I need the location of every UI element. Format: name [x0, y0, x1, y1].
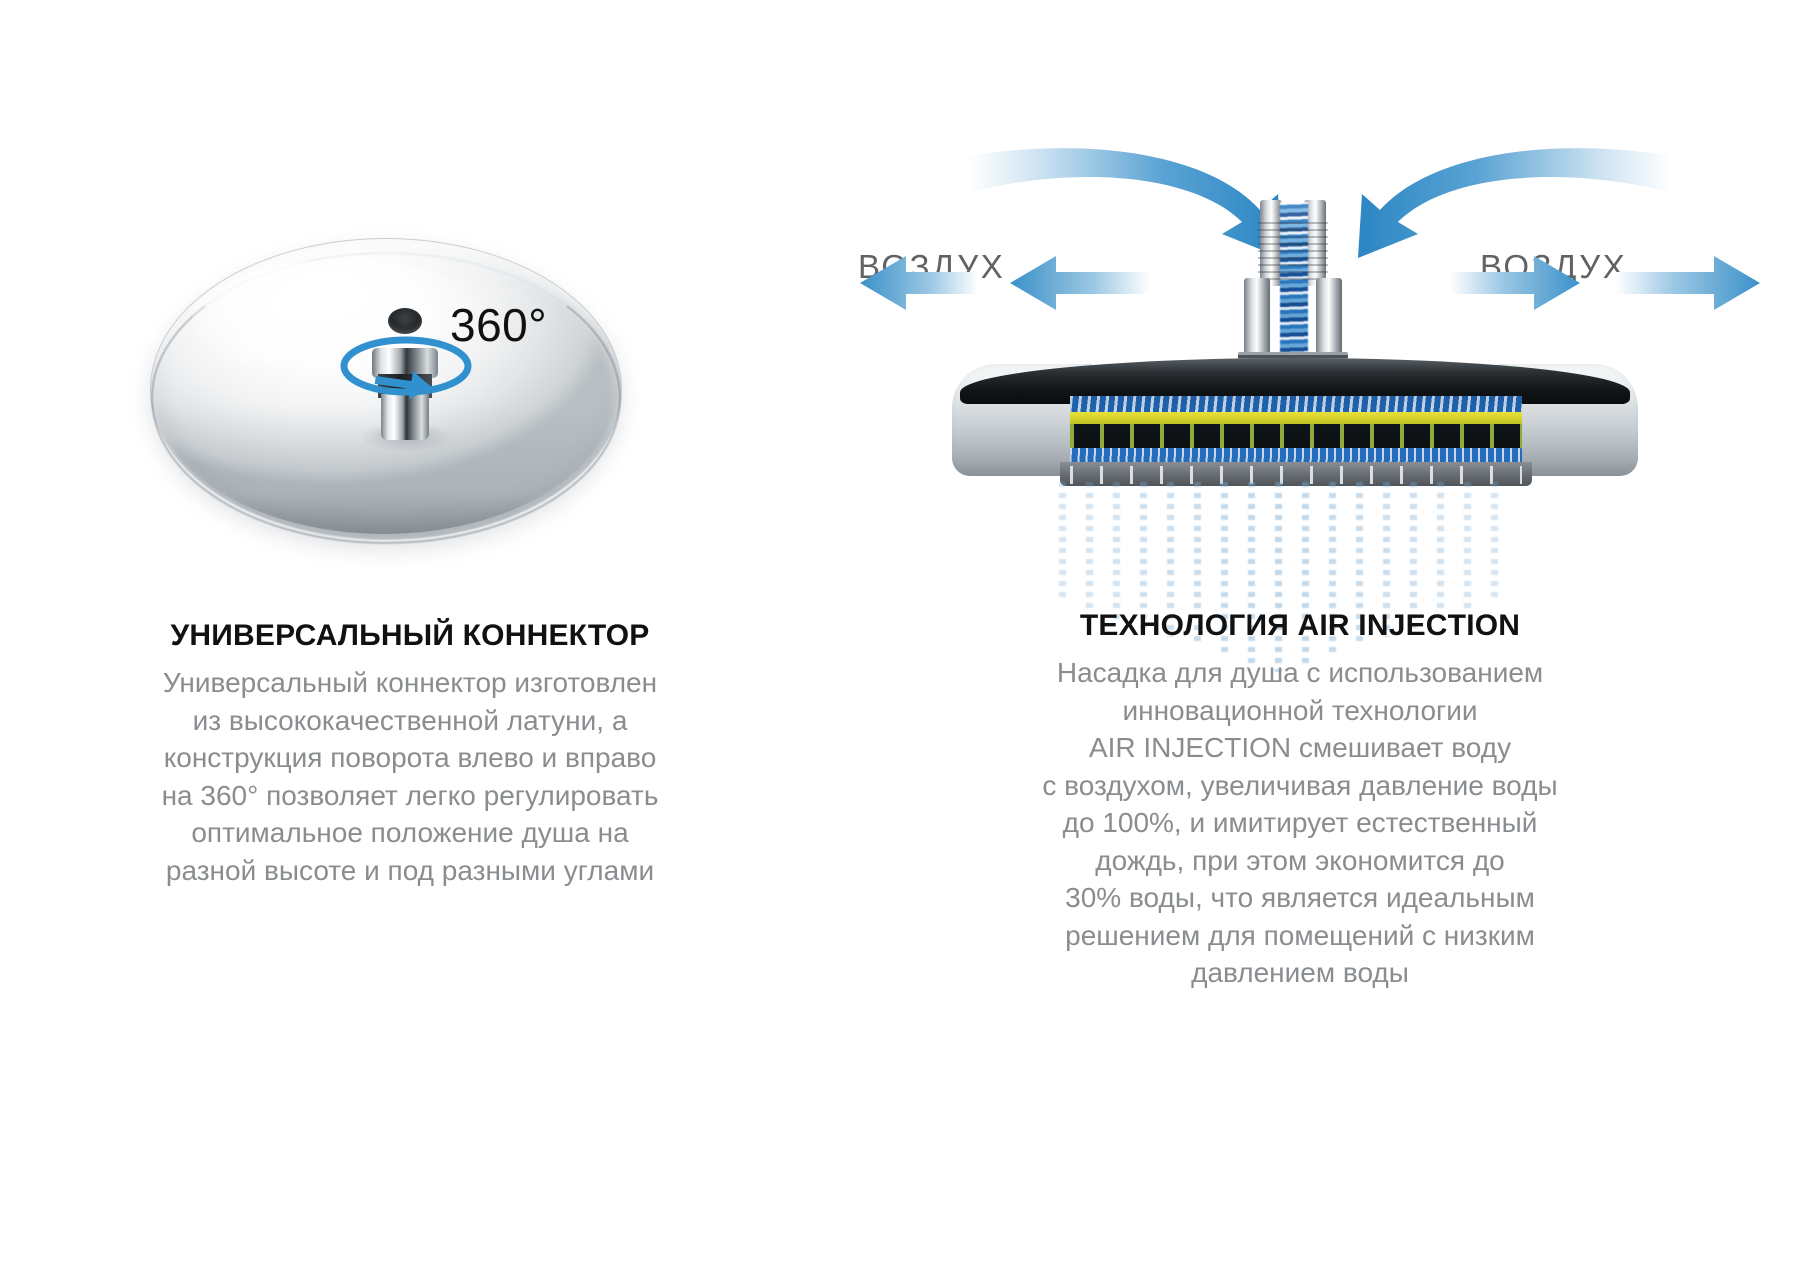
heading-universal-connector: УНИВЕРСАЛЬНЫЙ КОННЕКТОР — [105, 618, 715, 654]
rotation-degree-label: 360° — [450, 298, 547, 352]
body-line: 30% воды, что является идеальным — [980, 879, 1620, 917]
body-line: AIR INJECTION смешивает воду — [980, 729, 1620, 767]
body-universal-connector: Универсальный коннектор изготовлен из вы… — [105, 664, 715, 889]
water-stream — [1464, 482, 1471, 611]
right-air-outflow-arrows-icon — [1440, 248, 1770, 323]
body-air-injection: Насадка для душа с использованием иннова… — [980, 654, 1620, 992]
water-stream — [1437, 482, 1444, 620]
heading-air-injection: ТЕХНОЛОГИЯ AIR INJECTION — [980, 608, 1620, 644]
water-stream — [1059, 482, 1066, 602]
water-stream — [1113, 482, 1120, 620]
nozzle-wall-left-lower — [1244, 278, 1270, 358]
shower-body-cross-section — [960, 358, 1630, 488]
body-line: на 360° позволяет легко регулировать — [105, 777, 715, 815]
water-stream — [1140, 482, 1147, 628]
body-line: до 100%, и имитирует естественный — [980, 804, 1620, 842]
body-line: дождь, при этом экономится до — [980, 842, 1620, 880]
water-stream — [1086, 482, 1093, 611]
connector-bore — [388, 308, 422, 334]
body-line: оптимальное положение душа на — [105, 814, 715, 852]
nozzle-cutaway — [1238, 200, 1348, 375]
diffuser-pins-layer — [1070, 424, 1522, 450]
caption-universal-connector: УНИВЕРСАЛЬНЫЙ КОННЕКТОР Универсальный ко… — [105, 618, 715, 889]
nozzle-threads — [1258, 222, 1328, 282]
left-air-outflow-arrows-icon — [860, 248, 1180, 323]
body-line: решением для помещений с низким — [980, 917, 1620, 955]
air-injection-image: ВОЗДУХ ВОЗДУХ — [840, 120, 1800, 590]
body-line: инновационной технологии — [980, 692, 1620, 730]
body-line: из высококачественной латуни, а — [105, 702, 715, 740]
water-stream — [1410, 482, 1417, 628]
body-line: разной высоте и под разными углами — [105, 852, 715, 890]
body-line: конструкция поворота влево и вправо — [105, 739, 715, 777]
infographic-page: 360° УНИВЕРСАЛЬНЫЙ КОННЕКТОР Универсальн… — [0, 0, 1800, 1269]
body-line: с воздухом, увеличивая давление воды — [980, 767, 1620, 805]
body-line: давлением воды — [980, 954, 1620, 992]
panel-universal-connector: 360° УНИВЕРСАЛЬНЫЙ КОННЕКТОР Универсальн… — [0, 0, 840, 1269]
nozzle-wall-right-lower — [1316, 278, 1342, 358]
body-line: Универсальный коннектор изготовлен — [105, 664, 715, 702]
panel-air-injection: ВОЗДУХ ВОЗДУХ — [840, 0, 1800, 1269]
caption-air-injection: ТЕХНОЛОГИЯ AIR INJECTION Насадка для душ… — [980, 608, 1620, 992]
shower-head-disc-image: 360° — [150, 238, 620, 558]
body-line: Насадка для душа с использованием — [980, 654, 1620, 692]
water-stream — [1491, 482, 1498, 602]
